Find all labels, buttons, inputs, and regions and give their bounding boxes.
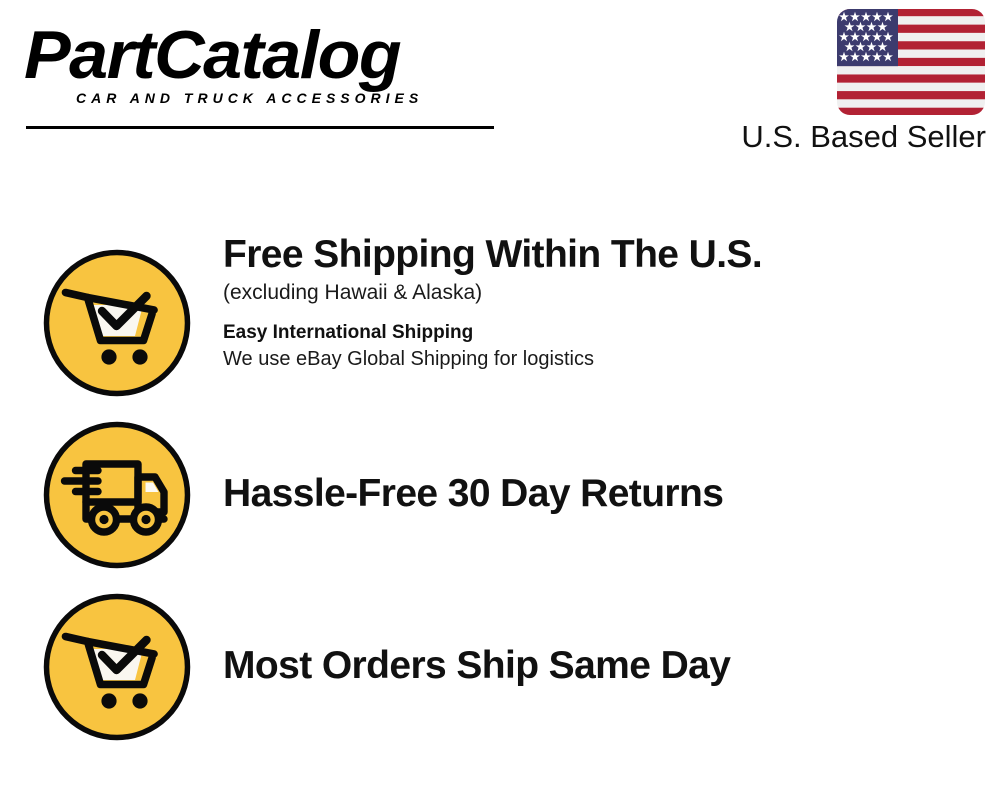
feature-secondary-heading: Easy International Shipping [223,320,1000,345]
feature-secondary-detail: We use eBay Global Shipping for logistic… [223,345,1000,373]
cart-check-icon [42,592,192,742]
feature-title: Hassle-Free 30 Day Returns [223,471,1000,517]
feature-list: Free Shipping Within The U.S. (excluding… [0,232,1000,748]
logo-underline-rule [26,126,494,129]
feature-row: Free Shipping Within The U.S. (excluding… [0,232,1000,404]
cart-check-icon [42,248,192,398]
page-header: PartCatalog CAR AND TRUCK ACCESSORIES [0,0,1000,165]
us-flag-icon [836,8,986,116]
brand-logo[interactable]: PartCatalog CAR AND TRUCK ACCESSORIES [24,22,494,106]
feature-title: Most Orders Ship Same Day [223,643,1000,689]
feature-text-block: Hassle-Free 30 Day Returns [223,471,1000,517]
delivery-truck-icon-graphic [42,420,192,570]
feature-row: Hassle-Free 30 Day Returns [0,404,1000,576]
cart-check-icon-graphic [42,592,192,742]
feature-row: Most Orders Ship Same Day [0,576,1000,748]
feature-text-block: Most Orders Ship Same Day [223,643,1000,689]
us-based-seller-label: U.S. Based Seller [741,118,986,156]
cart-check-icon-graphic [42,248,192,398]
logo-wordmark: PartCatalog [24,22,508,88]
us-flag-badge [836,8,986,116]
feature-text-block: Free Shipping Within The U.S. (excluding… [223,232,1000,373]
feature-title: Free Shipping Within The U.S. [223,232,1000,278]
delivery-truck-icon [42,420,192,570]
feature-subtitle: (excluding Hawaii & Alaska) [223,278,1000,308]
